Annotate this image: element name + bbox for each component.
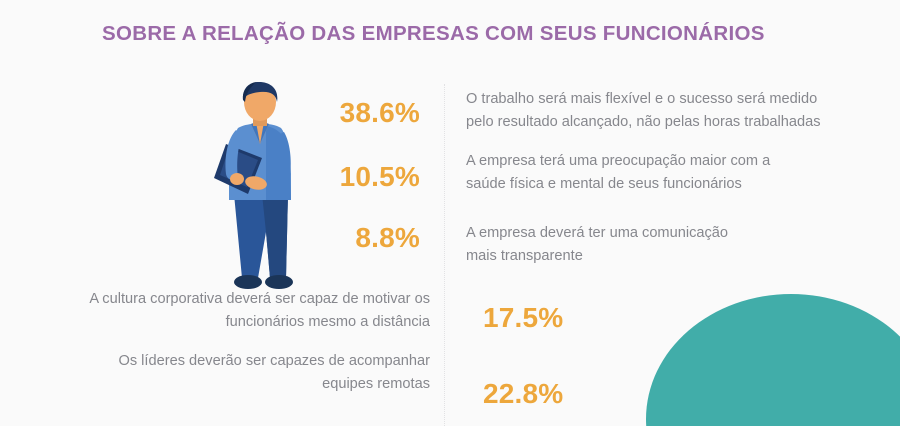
infographic-canvas: SOBRE A RELAÇÃO DAS EMPRESAS COM SEUS FU… bbox=[0, 0, 900, 426]
stat-percent-4: 17.5% bbox=[483, 302, 563, 334]
stat-description-1: O trabalho será mais flexível e o sucess… bbox=[466, 88, 896, 134]
stat-description-2: A empresa terá uma preocupação maior com… bbox=[466, 150, 896, 196]
stat-percent-5: 22.8% bbox=[483, 378, 563, 410]
stat-description-4: A cultura corporativa deverá ser capaz d… bbox=[0, 288, 430, 334]
teal-corner-decoration bbox=[646, 294, 900, 426]
stat-description-5: Os líderes deverão ser capazes de acompa… bbox=[0, 350, 430, 396]
vertical-dotted-divider bbox=[444, 84, 445, 426]
stat-percent-2: 10.5% bbox=[300, 161, 420, 193]
page-title: SOBRE A RELAÇÃO DAS EMPRESAS COM SEUS FU… bbox=[102, 22, 765, 46]
stat-percent-3: 8.8% bbox=[300, 222, 420, 254]
stat-percent-1: 38.6% bbox=[300, 97, 420, 129]
stat-description-3: A empresa deverá ter uma comunicação mai… bbox=[466, 222, 896, 268]
